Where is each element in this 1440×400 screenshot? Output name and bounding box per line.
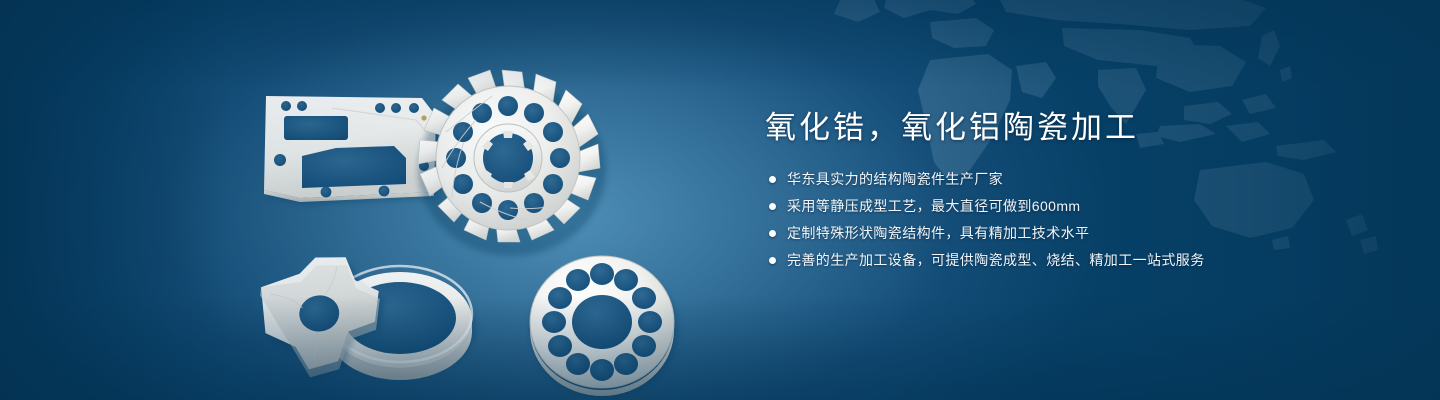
- product-photo-group: [240, 50, 710, 390]
- page-title: 氧化锆，氧化铝陶瓷加工: [765, 108, 1325, 148]
- hero-banner: 氧化锆，氧化铝陶瓷加工 华东具实力的结构陶瓷件生产厂家 采用等静压成型工艺，最大…: [0, 0, 1440, 400]
- ceramic-perforated-disc-part: [530, 256, 678, 398]
- bullet-icon: [769, 176, 776, 183]
- list-item-label: 定制特殊形状陶瓷结构件，具有精加工技术水平: [787, 224, 1089, 243]
- bullet-icon: [769, 230, 776, 237]
- bullet-icon: [769, 203, 776, 210]
- list-item: 采用等静压成型工艺，最大直径可做到600mm: [769, 197, 1325, 216]
- list-item-label: 完善的生产加工设备，可提供陶瓷成型、烧结、精加工一站式服务: [787, 251, 1205, 270]
- list-item-label: 采用等静压成型工艺，最大直径可做到600mm: [787, 197, 1080, 216]
- list-item: 完善的生产加工设备，可提供陶瓷成型、烧结、精加工一站式服务: [769, 251, 1325, 270]
- list-item-label: 华东具实力的结构陶瓷件生产厂家: [787, 170, 1003, 189]
- feature-list: 华东具实力的结构陶瓷件生产厂家 采用等静压成型工艺，最大直径可做到600mm 定…: [769, 170, 1325, 270]
- banner-copy: 氧化锆，氧化铝陶瓷加工 华东具实力的结构陶瓷件生产厂家 采用等静压成型工艺，最大…: [765, 108, 1325, 278]
- list-item: 定制特殊形状陶瓷结构件，具有精加工技术水平: [769, 224, 1325, 243]
- ceramic-impeller-part: [418, 70, 606, 256]
- list-item: 华东具实力的结构陶瓷件生产厂家: [769, 170, 1325, 189]
- bullet-icon: [769, 257, 776, 264]
